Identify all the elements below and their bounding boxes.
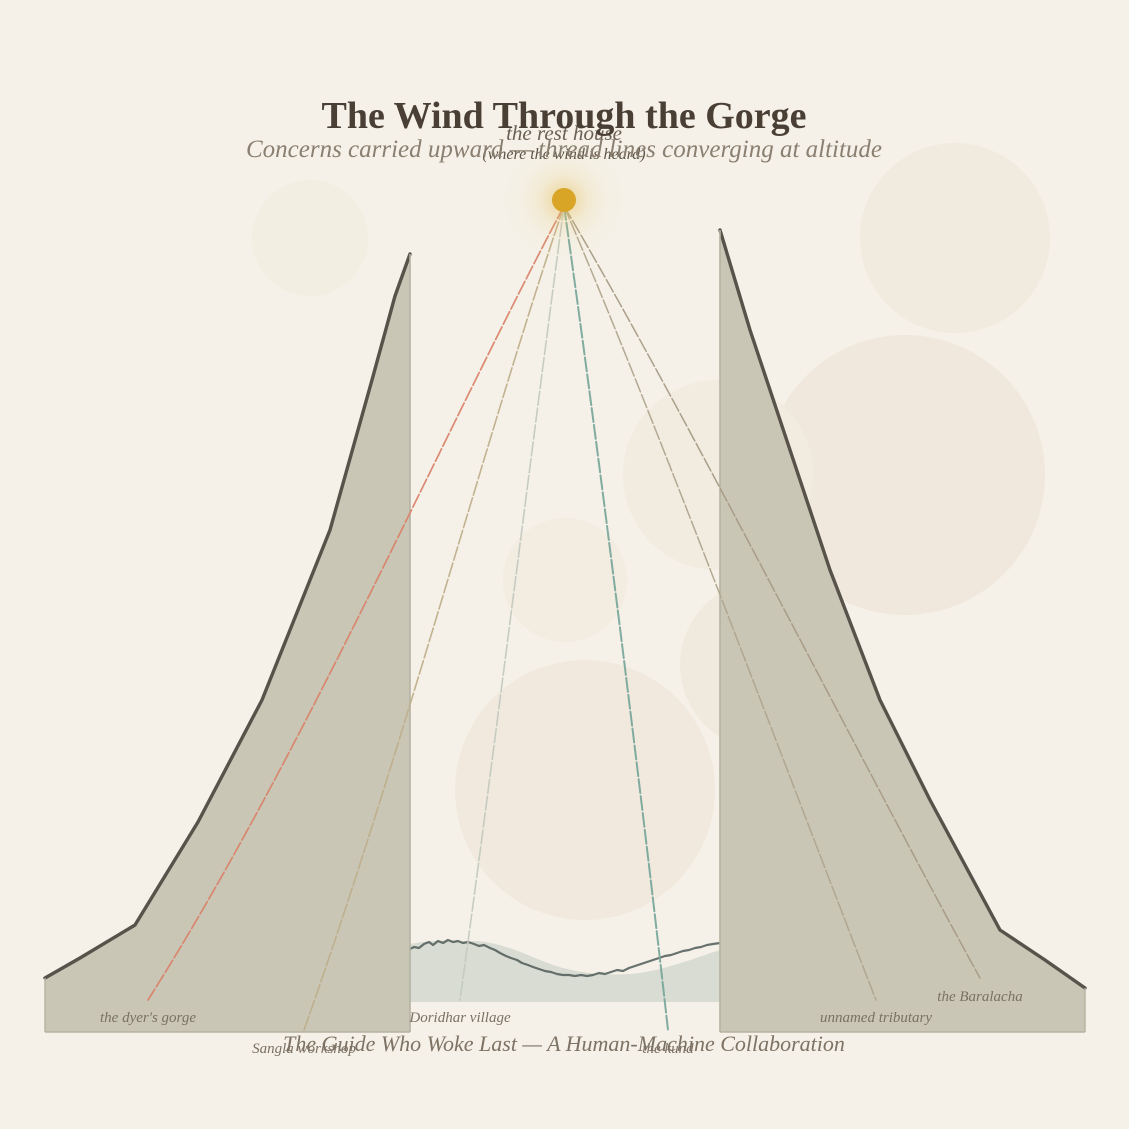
poster-canvas: the rest house (where the wind is heard)… <box>0 0 1129 1129</box>
ambient-circle <box>860 143 1050 333</box>
ambient-circle <box>455 660 715 920</box>
gorge-visualization: the rest house (where the wind is heard)… <box>0 0 1129 1129</box>
node-label-doridhar-village: Doridhar village <box>408 1010 511 1026</box>
node-label-the-baralacha: the Baralacha <box>937 989 1022 1005</box>
page-title: The Wind Through the Gorge <box>322 95 807 137</box>
footer-caption: The Guide Who Woke Last — A Human-Machin… <box>283 1031 845 1056</box>
node-label-unnamed-tributary: unnamed tributary <box>820 1010 932 1026</box>
ambient-circle <box>252 180 368 296</box>
node-label-dyers-gorge: the dyer's gorge <box>100 1010 196 1026</box>
page-subtitle: Concerns carried upward — thread lines c… <box>246 136 882 163</box>
hub-node-dot[interactable] <box>552 188 576 212</box>
